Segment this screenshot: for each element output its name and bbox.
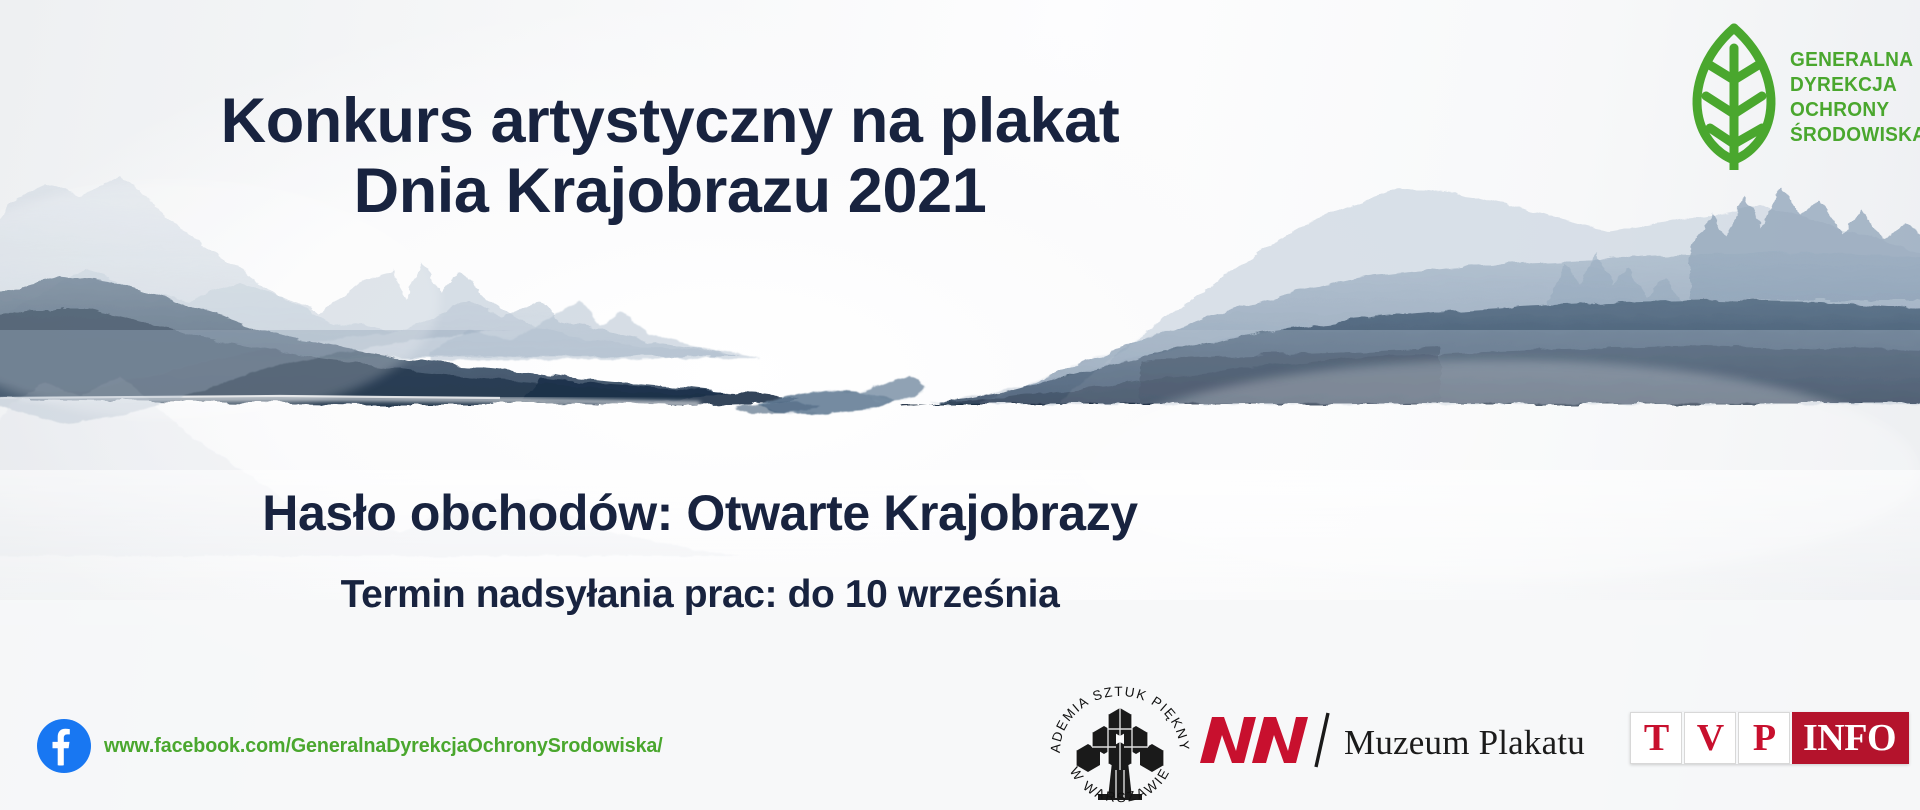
submission-deadline: Termin nadsyłania prac: do 10 września xyxy=(30,572,1370,618)
page-title-line1: Konkurs artystyczny na plakat xyxy=(0,86,1340,156)
tvp-letter-p: P xyxy=(1738,712,1790,764)
tvp-letter-t: T xyxy=(1630,712,1682,764)
tvp-letter-t-text: T xyxy=(1644,719,1668,757)
gdos-line-4: ŚRODOWISKA xyxy=(1790,123,1920,146)
mnw-muzeum-plakatu-logo: Muzeum Plakatu xyxy=(1198,700,1585,786)
gdos-line-2: DYREKCJA xyxy=(1790,73,1920,96)
tvp-letter-p-text: P xyxy=(1753,719,1775,757)
tvp-letter-v: V xyxy=(1684,712,1736,764)
facebook-icon[interactable] xyxy=(36,718,92,774)
facebook-link[interactable]: www.facebook.com/GeneralnaDyrekcjaOchron… xyxy=(36,718,686,774)
gdos-line-3: OCHRONY xyxy=(1790,98,1920,121)
tvp-info-logo: T V P INFO xyxy=(1630,712,1909,764)
asp-tree-seal-icon: AKADEMIA SZTUK PIĘKNYCH W WARSZAWIE xyxy=(1038,682,1202,810)
facebook-url-text[interactable]: www.facebook.com/GeneralnaDyrekcjaOchron… xyxy=(104,734,663,758)
tvp-info-badge: INFO xyxy=(1792,712,1909,764)
mnw-label: Muzeum Plakatu xyxy=(1344,723,1585,763)
tvp-info-text: INFO xyxy=(1803,719,1896,757)
leaf-icon xyxy=(1688,18,1780,170)
gdos-line-1: GENERALNA xyxy=(1790,48,1920,71)
event-slogan: Hasło obchodów: Otwarte Krajobrazy xyxy=(30,484,1370,542)
page-title-line2: Dnia Krajobrazu 2021 xyxy=(0,156,1340,226)
mnw-zigzag-icon xyxy=(1198,711,1330,776)
poster-canvas: Konkurs artystyczny na plakat Dnia Krajo… xyxy=(0,0,1920,810)
gdos-logo: GENERALNA DYREKCJA OCHRONY ŚRODOWISKA xyxy=(1688,14,1914,174)
gdos-logo-text: GENERALNA DYREKCJA OCHRONY ŚRODOWISKA xyxy=(1790,42,1920,146)
tvp-letter-v-text: V xyxy=(1697,719,1723,757)
